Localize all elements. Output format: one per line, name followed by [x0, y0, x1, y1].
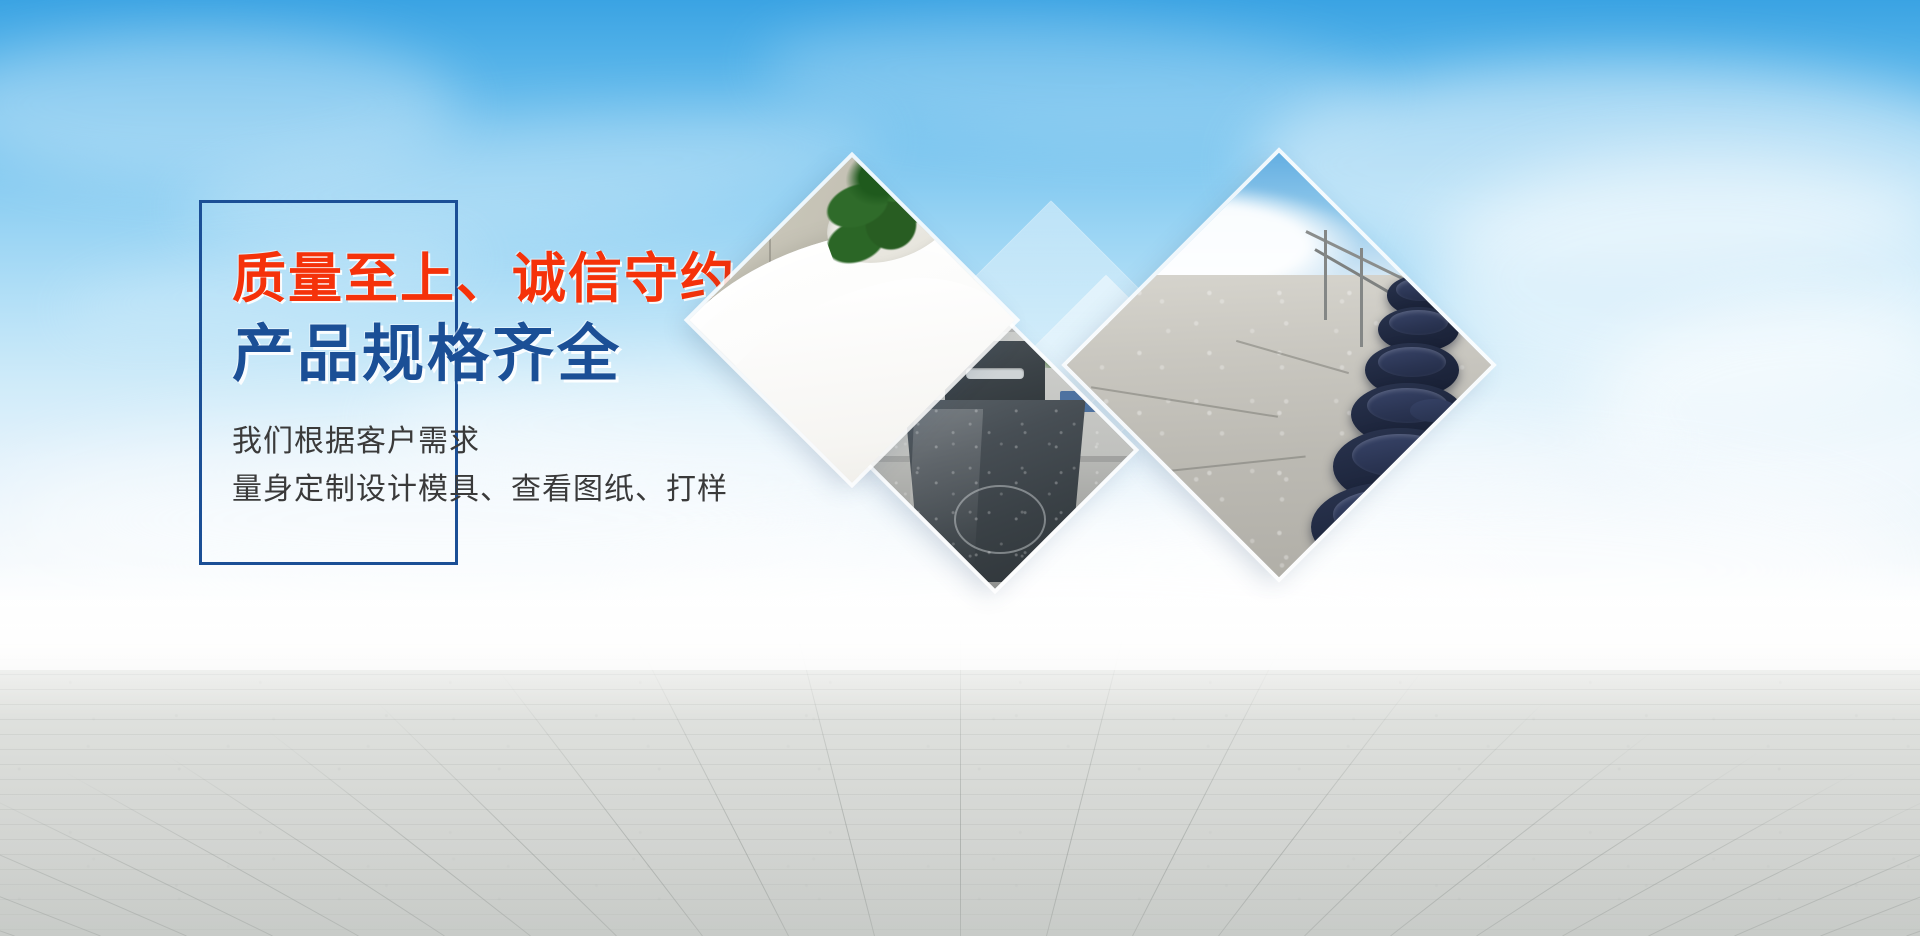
frame-bottom-edge: [199, 562, 458, 565]
photo-tank-cap: [1389, 310, 1447, 335]
horizon-glow: [0, 560, 1920, 670]
subcopy-line-1: 我们根据客户需求: [232, 418, 872, 466]
photo-tank-cap: [1378, 347, 1446, 377]
bottom-vignette: [0, 846, 1920, 936]
photo-rail-post: [1360, 248, 1363, 347]
frame-top-edge: [199, 200, 458, 203]
subcopy-line-2: 量身定制设计模具、查看图纸、打样: [232, 466, 872, 514]
banner-stage: 质量至上、诚信守约 产品规格齐全 我们根据客户需求 量身定制设计模具、查看图纸、…: [0, 0, 1920, 936]
subcopy-block: 我们根据客户需求 量身定制设计模具、查看图纸、打样: [232, 418, 872, 514]
photo-bin-slot: [966, 368, 1025, 380]
photo-rail-post: [1324, 230, 1327, 320]
diamond-inner: [1129, 215, 1429, 515]
diamond-inner: [737, 205, 967, 435]
